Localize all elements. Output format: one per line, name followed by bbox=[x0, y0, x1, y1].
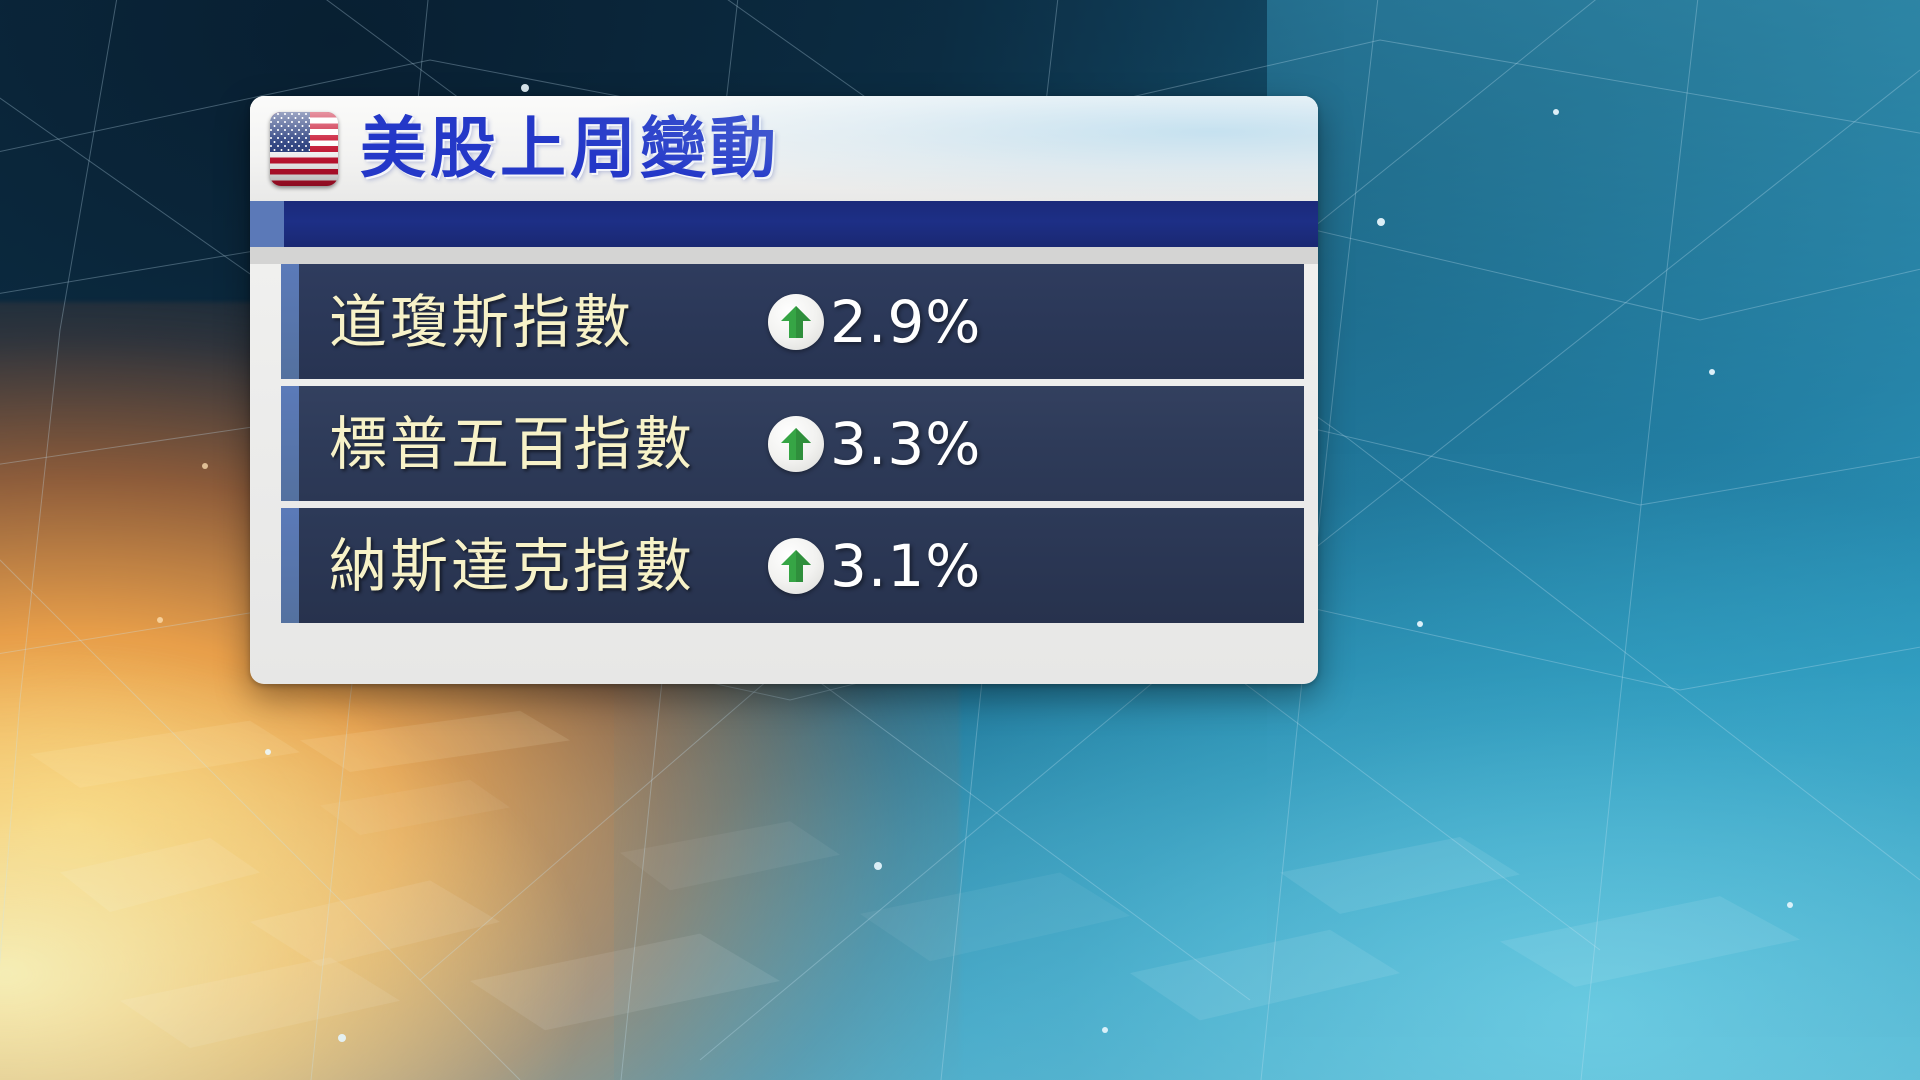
index-change: 2.9% bbox=[768, 293, 981, 351]
card-divider bbox=[250, 247, 1318, 264]
accent-band-fill bbox=[284, 201, 1318, 247]
accent-band-tab bbox=[250, 201, 284, 247]
index-change: 3.3% bbox=[768, 415, 981, 473]
us-flag-icon bbox=[270, 112, 338, 186]
table-row: 標普五百指數 3.3% bbox=[281, 386, 1304, 501]
floor-haze bbox=[0, 670, 1920, 1080]
page-title: 美股上周變動 bbox=[360, 116, 780, 182]
index-change-value: 2.9% bbox=[830, 293, 981, 351]
index-table: 道瓊斯指數 2.9% 標普五百指數 bbox=[250, 264, 1318, 623]
index-change-value: 3.1% bbox=[830, 537, 981, 595]
arrow-up-green-icon bbox=[768, 294, 824, 350]
index-name: 標普五百指數 bbox=[329, 415, 695, 473]
table-row: 道瓊斯指數 2.9% bbox=[281, 264, 1304, 379]
broadcast-stage: 美股上周變動 道瓊斯指數 2.9% bbox=[0, 0, 1920, 1080]
arrow-up-green-icon bbox=[768, 416, 824, 472]
arrow-up-green-icon bbox=[768, 538, 824, 594]
index-name: 納斯達克指數 bbox=[329, 537, 695, 595]
accent-band bbox=[250, 201, 1318, 247]
stats-card: 美股上周變動 道瓊斯指數 2.9% bbox=[250, 96, 1318, 684]
flag-gloss bbox=[270, 112, 338, 186]
index-change-value: 3.3% bbox=[830, 415, 981, 473]
card-title-bar: 美股上周變動 bbox=[250, 96, 1318, 201]
index-name: 道瓊斯指數 bbox=[329, 293, 634, 351]
row-accent-bar bbox=[281, 386, 299, 501]
row-accent-bar bbox=[281, 264, 299, 379]
index-change: 3.1% bbox=[768, 537, 981, 595]
table-row: 納斯達克指數 3.1% bbox=[281, 508, 1304, 623]
row-accent-bar bbox=[281, 508, 299, 623]
